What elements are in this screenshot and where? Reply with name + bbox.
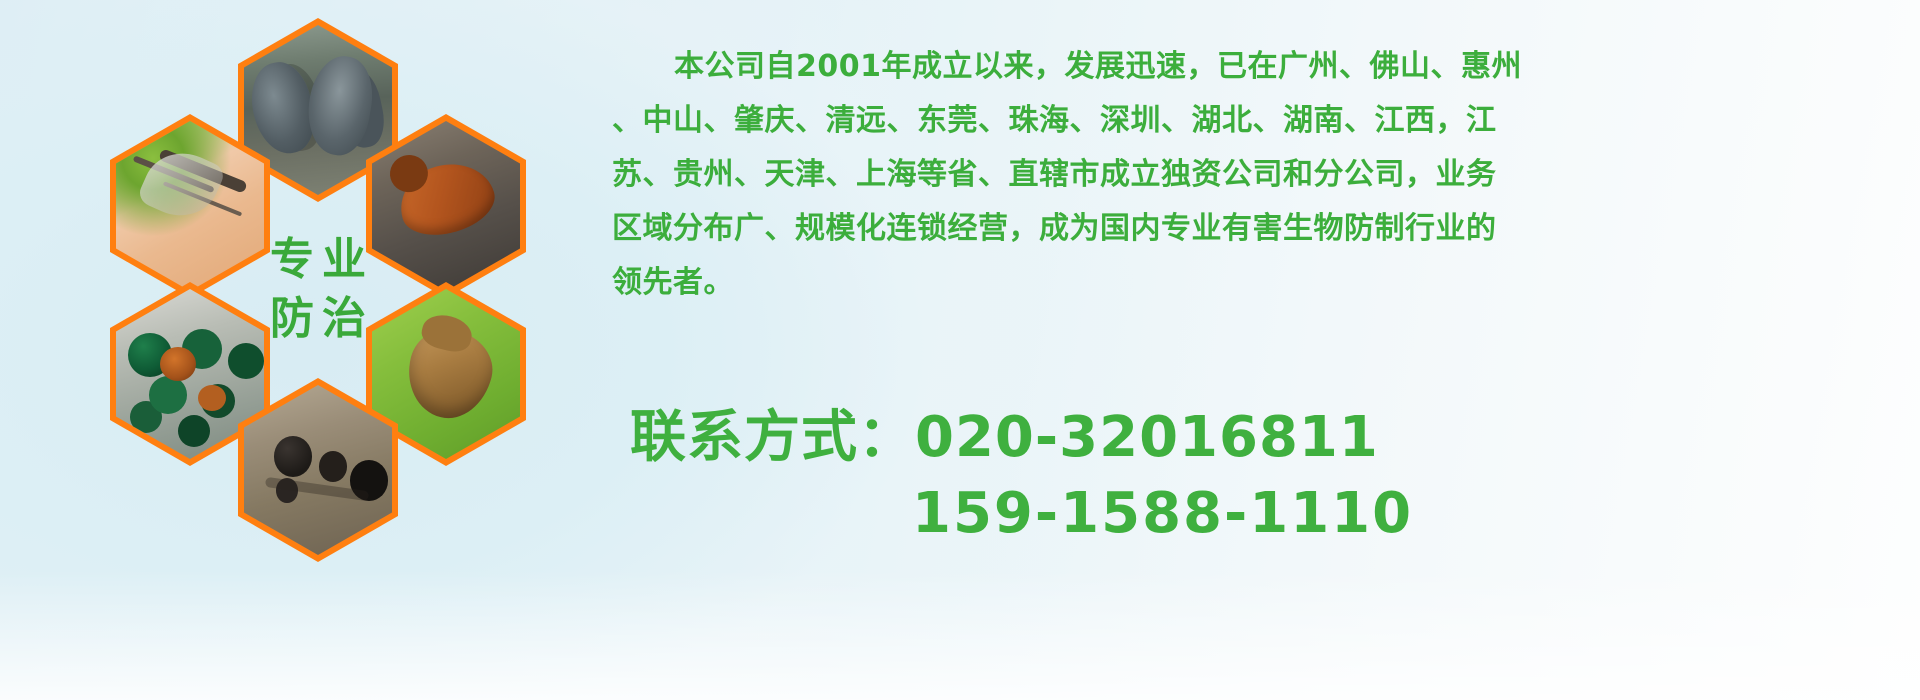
description-line-1-text: 本公司自2001年成立以来，发展迅速，已在广州、佛山、惠州 [674,49,1522,84]
description-line-2: 、中山、肇庆、清远、东莞、珠海、深圳、湖北、湖南、江西，江 [612,94,1912,148]
company-description: 本公司自2001年成立以来，发展迅速，已在广州、佛山、惠州 、中山、肇庆、清远、… [612,40,1912,310]
ant-photo [244,385,392,555]
badge-line-2: 防治 [262,293,374,346]
description-line-5: 领先者。 [612,256,1912,310]
description-line-1: 本公司自2001年成立以来，发展迅速，已在广州、佛山、惠州 [612,40,1912,94]
ant-image-art [244,385,392,555]
description-line-4: 区域分布广、规模化连锁经营，成为国内专业有害生物防制行业的 [612,202,1912,256]
badge-professional-control: 专业 防治 [238,198,398,382]
contact-phone-landline[interactable]: 联系方式：020-32016811 [612,400,1912,476]
contact-phone-mobile[interactable]: 159-1588-1110 [612,476,1912,552]
contact-block: 联系方式：020-32016811 159-1588-1110 [612,400,1912,552]
description-line-3: 苏、贵州、天津、上海等省、直辖市成立独资公司和分公司，业务 [612,148,1912,202]
badge-line-1: 专业 [262,234,374,287]
promo-banner: 专业 防治 本公司自2001年成立以来，发展迅速，已在广州、佛山、惠州 、中山、… [0,0,1920,700]
honeycomb-photo-cluster: 专业 防治 [90,10,590,570]
